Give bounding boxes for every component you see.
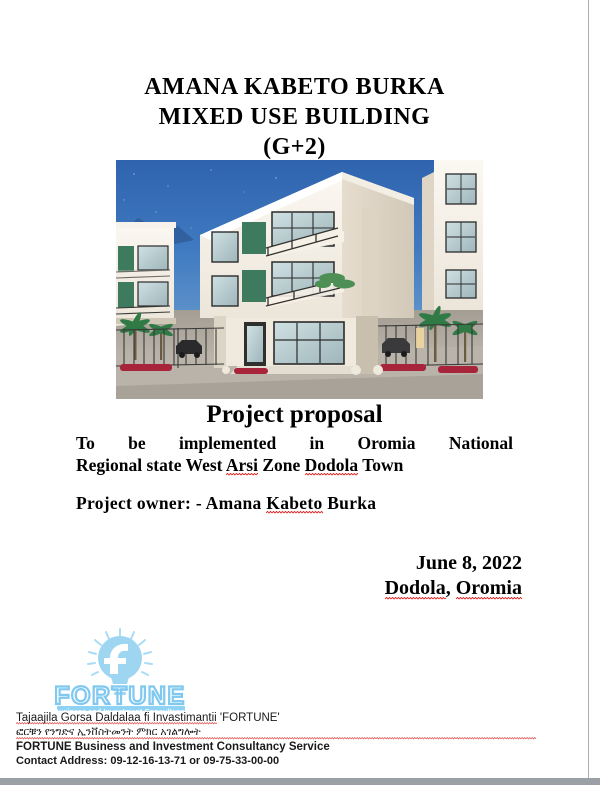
footer-line-oromo: Tajaajila Gorsa Daldalaa fi Invastimanti… [16,711,536,725]
proposal-heading: Project proposal [0,400,589,430]
implementation-paragraph: To be implemented in Oromia National Reg… [76,432,513,476]
place-separator: , [446,577,456,599]
document-title-block: AMANA KABETO BURKA MIXED USE BUILDING (G… [0,72,589,162]
footer-contact-block: Tajaajila Gorsa Daldalaa fi Invastimanti… [16,711,536,768]
implementation-line-2: Regional state West Arsi Zone Dodola Tow… [76,454,513,476]
implementation-line-2-part-c: Zone [258,455,305,475]
implementation-line-2-part-a: Regional state West [76,455,226,475]
implementation-line-1: To be implemented in Oromia National [76,432,513,454]
misspelled-dodola-place: Dodola [385,577,446,600]
document-page: AMANA KABETO BURKA MIXED USE BUILDING (G… [0,0,589,778]
logo-wordmark: FORTUNE [54,682,185,710]
project-owner-line: Project owner: - Amana Kabeto Burka [76,492,536,514]
project-owner-label: Project owner: - Amana [76,493,266,513]
misspelled-kabeto: Kabeto [266,493,322,514]
footer-oromo-brand: 'FORTUNE' [217,712,280,724]
building-render-svg [116,160,483,399]
misspelled-oromia-place: Oromia [456,577,522,600]
footer-line-english: FORTUNE Business and Investment Consulta… [16,740,536,754]
footer-oromo-misspelled: Tajaajila Gorsa Daldalaa fi Invastimanti… [16,712,217,725]
footer-line-amharic: ፎርቹን የንግድና ኢንቨስትመንት ምክር አገልግሎት [16,725,536,740]
page-right-gutter [590,0,600,778]
title-line-2: MIXED USE BUILDING [0,102,589,132]
misspelled-arsi: Arsi [226,455,258,476]
fortune-logo-svg: FORTUNE Business and Investment Consulta… [42,627,198,711]
document-place: Dodola, Oromia [0,576,522,601]
title-line-1: AMANA KABETO BURKA [0,72,589,102]
implementation-line-2-part-e: Town [358,455,403,475]
document-date: June 8, 2022 [0,551,522,576]
building-render-image [116,160,483,399]
misspelled-dodola: Dodola [305,455,358,476]
date-place-block: June 8, 2022 Dodola, Oromia [0,551,522,601]
fortune-logo: FORTUNE Business and Investment Consulta… [42,627,198,711]
page-bottom-bar [0,778,600,785]
footer-line-contact: Contact Address: 09-12-16-13-71 or 09-75… [16,754,536,768]
title-line-3: (G+2) [0,132,589,162]
project-owner-name-rest: Burka [323,493,377,513]
